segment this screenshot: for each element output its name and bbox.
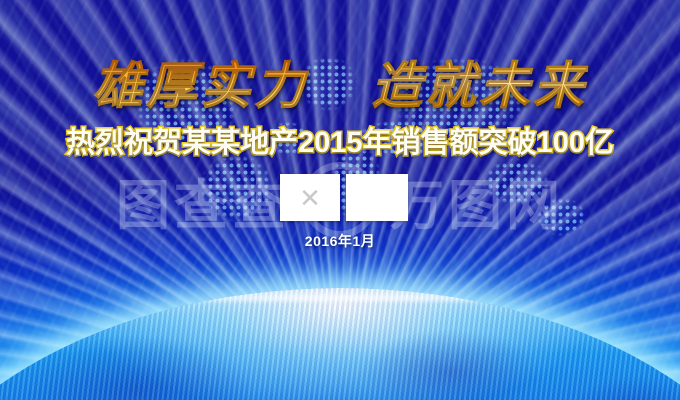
headline-segment-2: 造就未来	[372, 46, 588, 118]
headline: 雄厚实力 造就未来	[0, 46, 680, 118]
earth-horizon	[0, 288, 680, 400]
subheadline: 热烈祝贺某某地产2015年销售额突破100亿	[0, 119, 680, 161]
earth-rim-glow	[0, 288, 680, 301]
placeholder-x-icon: ✕	[299, 185, 321, 211]
logo-placeholder-left[interactable]: ✕	[280, 174, 340, 221]
logo-placeholder-group: ✕	[280, 174, 408, 221]
headline-segment-1: 雄厚实力	[93, 46, 309, 118]
poster-canvas: 图查查 万图网 雄厚实力 造就未来 热烈祝贺某某地产2015年销售额突破100亿…	[0, 0, 680, 400]
logo-placeholder-right[interactable]	[346, 174, 408, 221]
date-label: 2016年1月	[0, 231, 680, 251]
earth-surface-texture	[0, 288, 680, 400]
